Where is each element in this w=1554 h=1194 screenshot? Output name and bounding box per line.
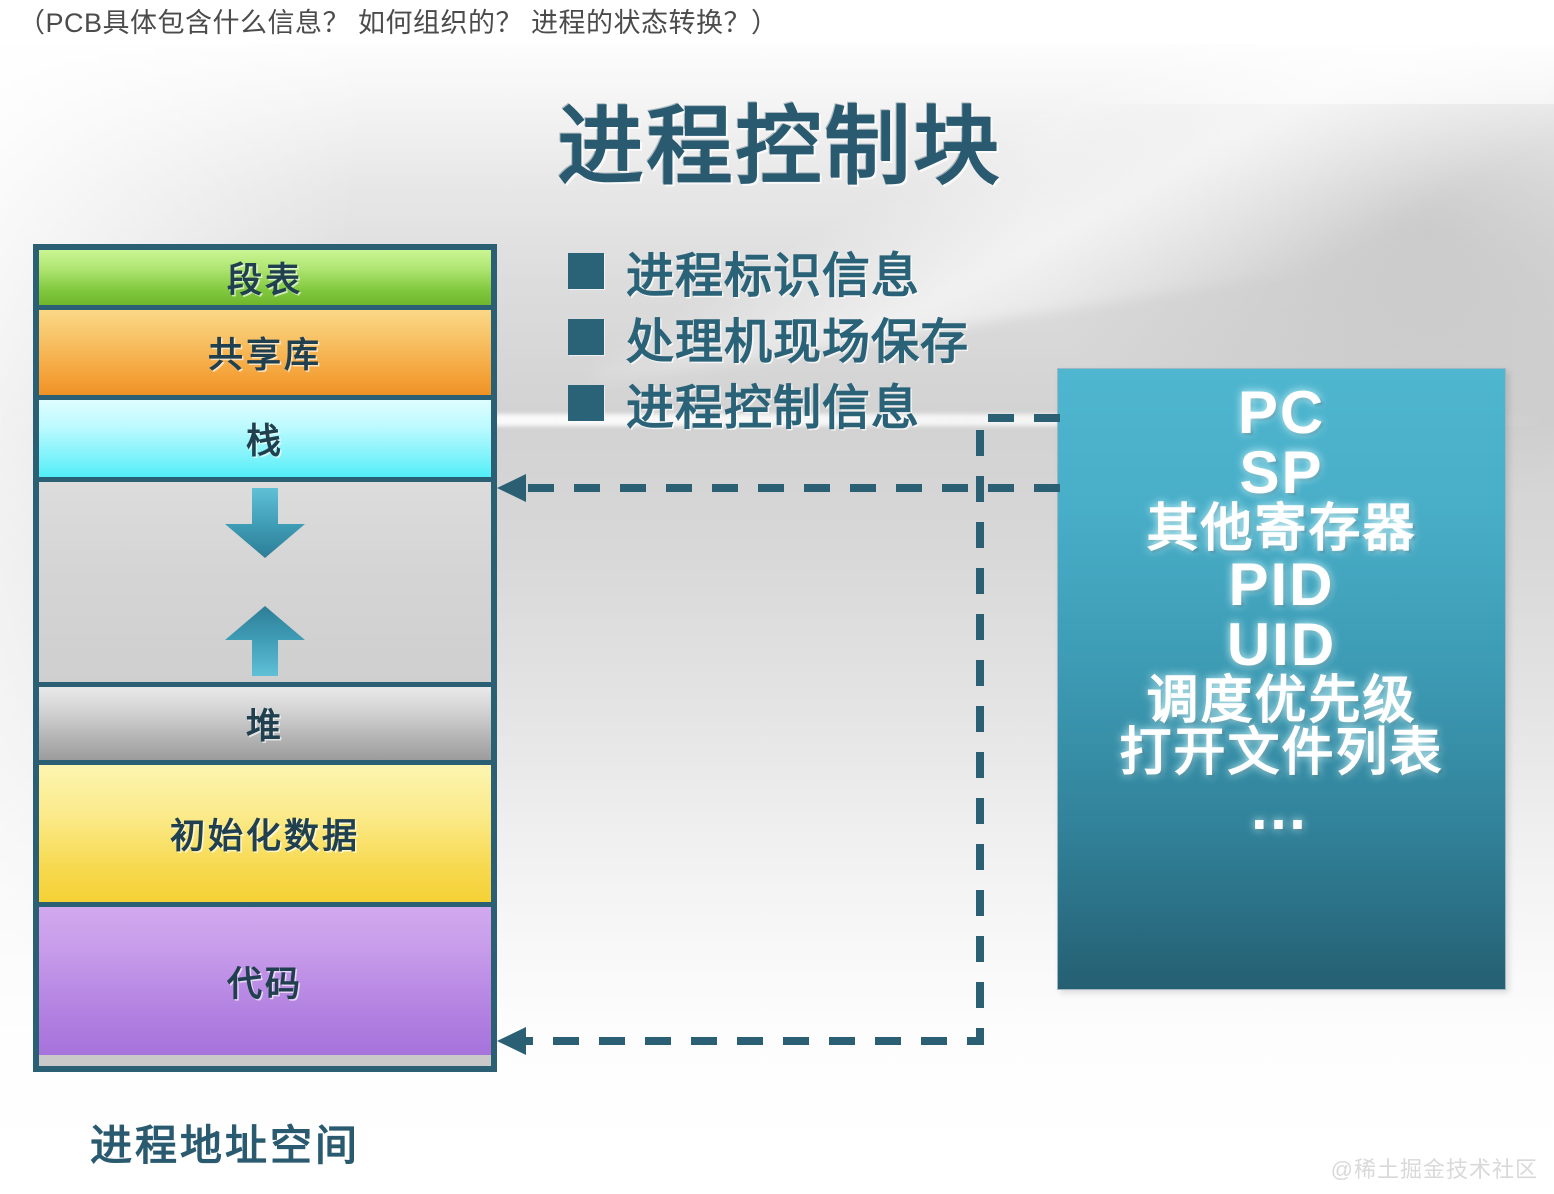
memory-block-label: 代码 [227,956,303,1007]
pcb-field-other-registers: 其他寄存器 [1058,503,1505,555]
pcb-field-open-file-list: 打开文件列表 [1058,727,1505,779]
bullet-label: 处理机现场保存 [626,302,969,372]
stack-grows-down-arrow-icon [219,488,311,560]
pcb-field-sp: SP [1058,443,1505,503]
memory-block-initialized-data: 初始化数据 [39,765,491,907]
memory-block-free-gap [39,482,491,687]
pcb-contents-panel: PC SP 其他寄存器 PID UID 调度优先级 打开文件列表 … [1057,368,1506,990]
bullet-label: 进程控制信息 [626,368,920,438]
pcb-bullet-list: 进程标识信息 处理机现场保存 进程控制信息 [568,238,1038,436]
memory-block-label: 初始化数据 [170,808,360,859]
memory-block-shared-library: 共享库 [39,310,491,400]
question-caption: （PCB具体包含什么信息？ 如何组织的？ 进程的状态转换？） [18,0,1318,40]
slide-root: （PCB具体包含什么信息？ 如何组织的？ 进程的状态转换？） 进程控制块 进程标… [0,0,1554,1194]
pcb-field-pid: PID [1058,555,1505,615]
list-item: 进程标识信息 [568,238,1038,304]
memory-block-heap: 堆 [39,687,491,765]
heap-grows-up-arrow-icon [219,604,311,676]
pcb-field-pc: PC [1058,383,1505,443]
process-address-space-diagram: 段表 共享库 栈 [33,244,497,1072]
memory-block-code: 代码 [39,907,491,1055]
list-item: 进程控制信息 [568,370,1038,436]
bullet-label: 进程标识信息 [626,236,920,306]
memory-block-label: 共享库 [208,327,322,378]
list-item: 处理机现场保存 [568,304,1038,370]
diagram-caption: 进程地址空间 [90,1112,490,1173]
watermark: @稀土掘金技术社区 [1331,1152,1538,1184]
pcb-field-ellipsis: … [1058,779,1505,839]
memory-block-label: 堆 [246,698,284,749]
square-bullet-icon [568,319,604,355]
memory-block-label: 段表 [227,252,303,303]
square-bullet-icon [568,385,604,421]
memory-block-label: 栈 [246,413,284,464]
square-bullet-icon [568,253,604,289]
pcb-field-scheduling-priority: 调度优先级 [1058,675,1505,727]
pcb-field-uid: UID [1058,615,1505,675]
page-title: 进程控制块 [500,86,1060,190]
memory-block-segment-table: 段表 [39,250,491,310]
memory-block-stack: 栈 [39,400,491,482]
